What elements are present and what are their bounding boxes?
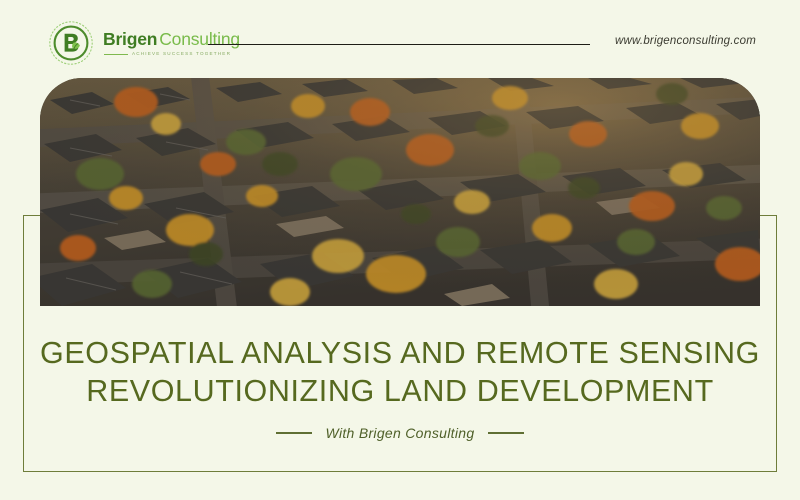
brand-tagline: Achieve Success Together [132,52,231,57]
page-title: Geospatial Analysis and Remote Sensing R… [0,334,800,410]
brand-wordmark: BrigenConsulting Achieve Success Togethe… [103,29,240,56]
brand-logo[interactable]: BrigenConsulting Achieve Success Togethe… [48,20,240,66]
title-line-2: Revolutionizing Land Development [0,372,800,410]
brigen-circular-leaf-monogram-icon [48,20,94,66]
brand-name-primary: Brigen [103,29,157,49]
tagline-rule [104,54,128,55]
title-line-1: Geospatial Analysis and Remote Sensing [0,334,800,372]
brand-name-secondary: Consulting [159,29,240,49]
website-url[interactable]: www.brigenconsulting.com [615,35,756,47]
header-divider-rule [208,44,590,45]
subtitle: With Brigen Consulting [0,425,800,441]
subtitle-text: With Brigen Consulting [326,425,475,441]
subtitle-rule-left [276,432,312,433]
poster-canvas: BrigenConsulting Achieve Success Togethe… [0,0,800,500]
header: BrigenConsulting Achieve Success Togethe… [0,0,800,80]
subtitle-rule-right [488,432,524,433]
hero-image-aerial-neighborhood [40,78,760,306]
